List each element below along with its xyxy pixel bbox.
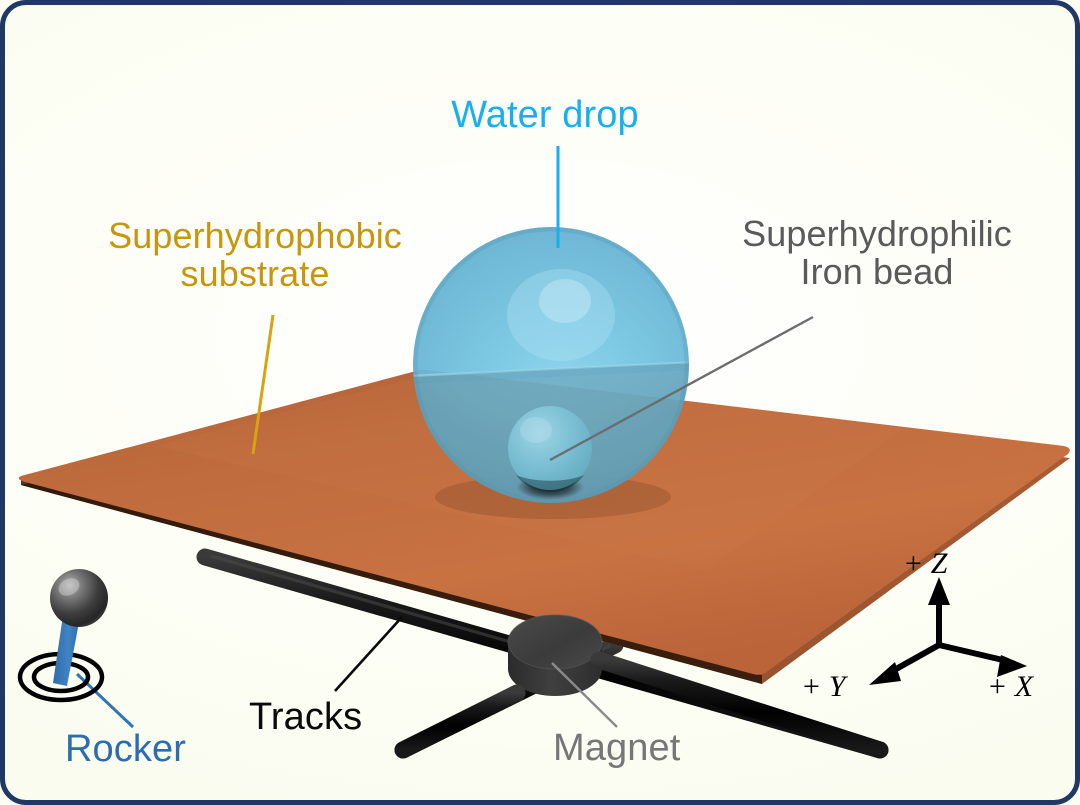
rocker-joystick[interactable] [20, 569, 108, 700]
axis-triad [869, 577, 1027, 685]
magnet-puck [508, 615, 602, 696]
figure-frame: Water drop Superhydrophobic substrate Su… [0, 0, 1080, 805]
label-tracks: Tracks [249, 697, 362, 737]
label-rocker: Rocker [65, 729, 186, 769]
figure-root: Water drop Superhydrophobic substrate Su… [0, 0, 1080, 805]
superhydrophilic-iron-bead [508, 406, 592, 500]
axis-label-x: + X [987, 670, 1033, 704]
axis-arrow-y [869, 645, 939, 685]
axis-label-y: + Y [801, 670, 845, 704]
label-water-drop: Water drop [5, 95, 1080, 135]
label-superhydrophobic-substrate: Superhydrophobic substrate [45, 217, 465, 293]
label-magnet: Magnet [553, 728, 680, 768]
leader-line-tracks [335, 617, 402, 691]
label-superhydrophilic-iron-bead: Superhydrophilic Iron bead [677, 215, 1077, 291]
axis-arrow-z [928, 577, 950, 645]
axis-label-z: + Z [903, 547, 947, 581]
